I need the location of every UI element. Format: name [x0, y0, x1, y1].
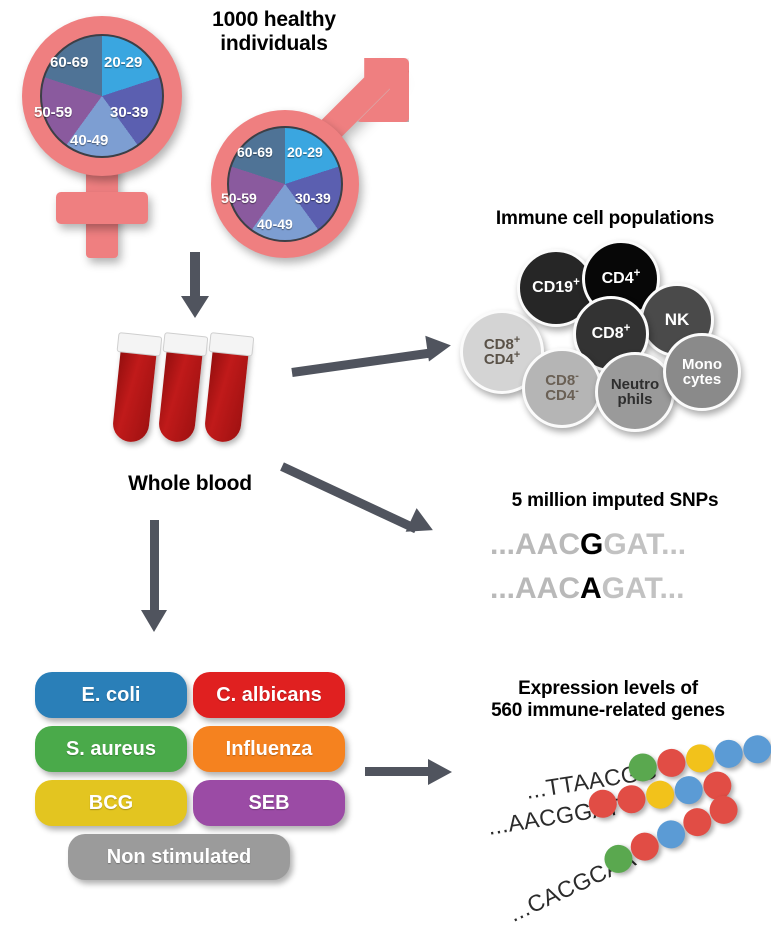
immune-bubble-monocytes-label: Monocytes: [682, 357, 722, 388]
arrow-cohort-to-blood-head: [181, 296, 209, 318]
stimulus-bcg-label: BCG: [89, 792, 133, 815]
expression-strand-1-bead-3: [684, 742, 716, 774]
stimulus-s-aureus-label: S. aureus: [66, 738, 156, 761]
male-symbol: 20-29 30-39 40-49 50-59 60-69: [205, 80, 435, 260]
immune-bubble-cd8-label: CD8+: [592, 326, 631, 342]
expression-title: Expression levels of 560 immune-related …: [452, 678, 764, 722]
male-pie-label-50-59: 50-59: [221, 190, 257, 206]
snp-sequence-2: ...AACAGAT...: [490, 572, 684, 606]
immune-bubble-neutrophils-label: Neutrophils: [611, 377, 659, 408]
female-pie-label-40-49: 40-49: [70, 132, 108, 149]
stimulus-bcg[interactable]: BCG: [35, 780, 187, 826]
male-pie-label-40-49: 40-49: [257, 216, 293, 232]
stimulus-s-aureus[interactable]: S. aureus: [35, 726, 187, 772]
snp-sequence-1-suffix: GAT...: [603, 528, 686, 562]
female-pie-label-30-39: 30-39: [110, 104, 148, 121]
stimulus-influenza-label: Influenza: [226, 738, 313, 761]
arrow-cohort-to-blood-line: [190, 252, 200, 302]
snp-sequence-1: ...AACGGAT...: [490, 528, 686, 562]
immune-bubble-cd8n-cd4n: CD8-CD4-: [522, 348, 602, 428]
snp-sequences: ...AACGGAT... ...AACAGAT...: [490, 528, 750, 618]
female-pie-label-20-29: 20-29: [104, 54, 142, 71]
expression-strands: ...TTAACGG ...AACGGAT ...CACGCAA: [470, 740, 770, 915]
stimulus-seb-label: SEB: [248, 792, 289, 815]
arrow-stimuli-to-expression-head: [428, 759, 452, 785]
snp-sequence-2-suffix: GAT...: [602, 572, 685, 606]
female-stem-horizontal: [56, 192, 148, 224]
arrow-blood-to-stimuli-line: [150, 520, 159, 616]
expression-strand-1-bead-4: [713, 738, 745, 770]
immune-title: Immune cell populations: [450, 208, 760, 230]
arrow-stimuli-to-expression-line: [365, 767, 431, 776]
arrow-blood-to-snp-head: [406, 508, 439, 542]
snp-sequence-1-variant: G: [580, 528, 603, 562]
arrow-blood-to-immune-head: [425, 332, 452, 361]
female-pie-label-60-69: 60-69: [50, 54, 88, 71]
snp-sequence-2-prefix: ...AAC: [490, 572, 580, 606]
male-pie-label-30-39: 30-39: [295, 190, 331, 206]
expression-title-line2: 560 immune-related genes: [452, 700, 764, 722]
arrow-blood-to-stimuli-head: [141, 610, 167, 632]
snp-title: 5 million imputed SNPs: [470, 490, 760, 512]
cohort-title-line2: individuals: [178, 32, 370, 56]
whole-blood-label: Whole blood: [80, 472, 300, 496]
expression-strand-1-bead-2: [655, 747, 687, 779]
snp-sequence-2-variant: A: [580, 572, 602, 606]
stimulus-seb[interactable]: SEB: [193, 780, 345, 826]
stimulus-c-albicans-label: C. albicans: [216, 684, 322, 707]
expression-title-line1: Expression levels of: [452, 678, 764, 700]
snp-sequence-1-prefix: ...AAC: [490, 528, 580, 562]
stimulus-influenza[interactable]: Influenza: [193, 726, 345, 772]
arrow-blood-to-immune-line: [291, 349, 431, 377]
female-symbol: 20-29 30-39 40-49 50-59 60-69: [8, 10, 198, 260]
stimulus-non-stimulated[interactable]: Non stimulated: [68, 834, 290, 880]
stimuli-panel: E. coli C. albicans S. aureus Influenza …: [35, 672, 345, 892]
female-pie-label-50-59: 50-59: [34, 104, 72, 121]
stimulus-c-albicans[interactable]: C. albicans: [193, 672, 345, 718]
immune-bubble-monocytes: Monocytes: [663, 333, 741, 411]
arrow-blood-to-snp-line: [280, 462, 418, 533]
immune-bubble-cd8p-cd4p-label: CD8+CD4+: [484, 337, 520, 368]
cohort-title: 1000 healthy individuals: [178, 8, 370, 56]
stimulus-e-coli[interactable]: E. coli: [35, 672, 187, 718]
immune-bubble-cd19-label: CD19+: [532, 280, 580, 296]
male-pie-label-60-69: 60-69: [237, 144, 273, 160]
immune-bubble-nk-label: NK: [665, 311, 690, 328]
immune-bubble-cd8n-cd4n-label: CD8-CD4-: [545, 373, 579, 404]
cohort-title-line1: 1000 healthy: [178, 8, 370, 32]
stimulus-e-coli-label: E. coli: [82, 684, 141, 707]
immune-bubble-cd4-label: CD4+: [602, 271, 641, 287]
blood-tubes: [100, 330, 280, 460]
expression-strand-1-bead-5: [741, 733, 771, 765]
stimulus-non-stimulated-label: Non stimulated: [107, 846, 251, 869]
immune-bubble-cluster: CD8+CD4+ CD19+ CD4+ NK CD8+ CD8-CD4- Neu…: [460, 240, 760, 430]
male-pie-label-20-29: 20-29: [287, 144, 323, 160]
